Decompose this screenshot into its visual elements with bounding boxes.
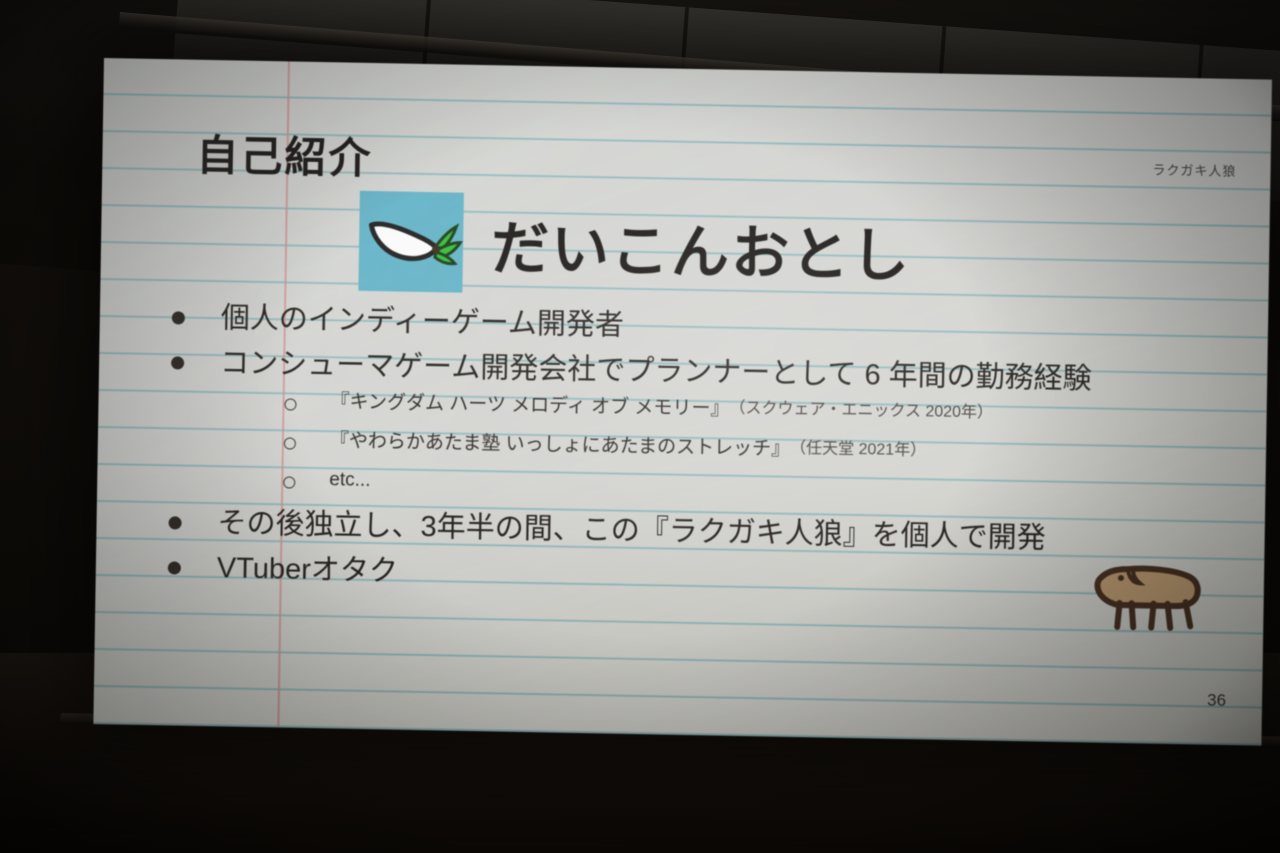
sub-bullet-ring-icon <box>283 476 295 488</box>
brand-tag: ラクガキ人狼 <box>1152 159 1236 180</box>
bullet-text: 個人のインディーゲーム開発者 <box>221 300 625 344</box>
bullet-text: コンシューマゲーム開発会社でプランナーとして 6 年間の勤務経験 <box>220 345 1092 398</box>
sub-bullet-note: （任天堂 2021年） <box>790 439 926 461</box>
projection-screen: 自己紹介 ラクガキ人狼 だいこんおとし <box>93 58 1272 746</box>
sub-bullet-text: etc... <box>329 469 371 493</box>
sub-bullet-ring-icon <box>284 399 296 411</box>
sub-bullet-item: 『やわらかあたま塾 いっしょにあたまのストレッチ』 （任天堂 2021年） <box>156 427 1246 470</box>
slide-content: 自己紹介 ラクガキ人狼 だいこんおとし <box>93 58 1272 746</box>
sub-bullet-ring-icon <box>284 437 296 449</box>
handle-name: だいこんおとし <box>490 201 911 293</box>
wolf-doodle-icon <box>1091 556 1210 632</box>
sub-bullet-note: （スクウェア・エニックス 2020年） <box>729 399 993 423</box>
bullet-dot-icon <box>172 311 185 324</box>
sub-bullet-list: 『キングダム ハーツ メロディ オブ メモリー』 （スクウェア・エニックス 20… <box>155 388 1247 509</box>
bullet-dot-icon <box>168 561 181 574</box>
bullet-text: その後独立し、3年半の間、この『ラクガキ人狼』を個人で開発 <box>217 506 1046 558</box>
bullet-text: VTuberオタク <box>217 550 399 590</box>
bullet-dot-icon <box>168 517 181 530</box>
photo-scene: 自己紹介 ラクガキ人狼 だいこんおとし <box>0 0 1280 853</box>
page-number: 36 <box>1207 691 1226 711</box>
sub-bullet-text: 『やわらかあたま塾 いっしょにあたまのストレッチ』 <box>330 430 791 461</box>
bullet-list: 個人のインディーゲーム開発者 コンシューマゲーム開発会社でプランナーとして 6 … <box>153 299 1248 614</box>
identity-row: だいこんおとし <box>358 191 912 301</box>
presentation-slide: 自己紹介 ラクガキ人狼 だいこんおとし <box>93 58 1272 746</box>
sub-bullet-item: etc... <box>155 466 1245 509</box>
bullet-dot-icon <box>171 356 184 369</box>
sub-bullet-text: 『キングダム ハーツ メロディ オブ メモリー』 <box>330 391 729 421</box>
slide-title: 自己紹介 <box>196 122 373 186</box>
daikon-radish-avatar-icon <box>358 191 464 293</box>
